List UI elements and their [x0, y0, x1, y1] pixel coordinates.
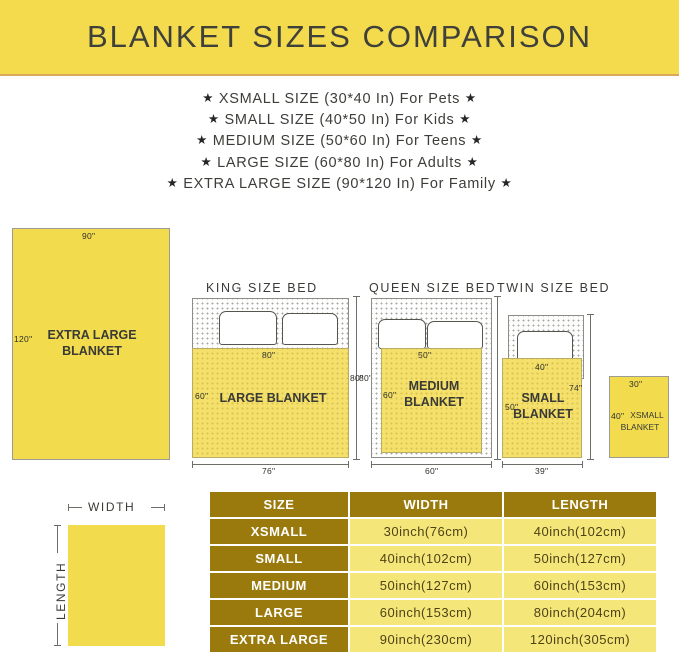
twin-width-tick-right: [582, 461, 583, 468]
king-height-tick-bottom: [353, 459, 360, 460]
king-width-rule: [192, 464, 349, 465]
row-size-label: SMALL: [210, 546, 348, 571]
column-header-width: WIDTH: [350, 492, 502, 517]
table-row: LARGE 60inch(153cm) 80inch(204cm): [210, 600, 656, 625]
king-pillow-right: [282, 313, 338, 345]
row-size-label: XSMALL: [210, 519, 348, 544]
row-size-label: EXTRA LARGE: [210, 627, 348, 652]
legend-blanket-shape: [68, 525, 165, 646]
king-width-tick-right: [348, 461, 349, 468]
queen-height-rule: [497, 296, 498, 460]
queen-bed-height-label: 80": [350, 373, 363, 383]
queen-pillow-right: [427, 321, 483, 349]
row-length-value: 50inch(127cm): [504, 546, 656, 571]
queen-medium-blanket-label-line1: MEDIUM: [398, 378, 470, 394]
row-size-label: LARGE: [210, 600, 348, 625]
king-large-blanket-label: LARGE BLANKET: [213, 390, 333, 406]
legend-length-rule-bottom: [57, 623, 58, 646]
legend-length-label: LENGTH: [54, 562, 68, 620]
queen-width-tick-right: [491, 461, 492, 468]
row-length-value: 120inch(305cm): [504, 627, 656, 652]
extra-large-blanket-label-line2: BLANKET: [42, 343, 142, 359]
king-blanket-width-label: 80": [262, 350, 275, 360]
queen-blanket-width-label: 50": [418, 350, 431, 360]
table-row: XSMALL 30inch(76cm) 40inch(102cm): [210, 519, 656, 544]
table-row: SMALL 40inch(102cm) 50inch(127cm): [210, 546, 656, 571]
column-header-size: SIZE: [210, 492, 348, 517]
king-bed-title: KING SIZE BED: [206, 281, 318, 295]
xsmall-blanket-label-line2: BLANKET: [615, 419, 665, 435]
legend-width-rule-left: [68, 507, 82, 508]
legend-width-rule-right: [151, 507, 165, 508]
twin-height-tick-top: [587, 314, 594, 315]
queen-pillow-left: [378, 319, 426, 349]
twin-width-tick-left: [502, 461, 503, 468]
legend-width-tick-right: [164, 504, 165, 511]
queen-height-tick-bottom: [494, 459, 501, 460]
queen-width-rule: [371, 464, 492, 465]
legend-length-tick-bottom: [54, 645, 61, 646]
row-width-value: 40inch(102cm): [350, 546, 502, 571]
size-comparison-table: SIZE WIDTH LENGTH XSMALL 30inch(76cm) 40…: [208, 490, 658, 654]
twin-bed-title: TWIN SIZE BED: [497, 281, 610, 295]
legend-length-rule-top: [57, 525, 58, 553]
queen-bed-title: QUEEN SIZE BED: [369, 281, 496, 295]
queen-blanket-height-label: 60": [383, 390, 396, 400]
xsmall-width-label: 30": [629, 379, 642, 389]
row-width-value: 90inch(230cm): [350, 627, 502, 652]
queen-bed-width-label: 60": [425, 466, 438, 476]
twin-small-blanket-label-line1: SMALL: [512, 390, 574, 406]
twin-small-blanket-label-line2: BLANKET: [512, 406, 574, 422]
table-row: EXTRA LARGE 90inch(230cm) 120inch(305cm): [210, 627, 656, 652]
legend-width-label: WIDTH: [88, 500, 135, 514]
legend-width-tick-left: [68, 504, 69, 511]
column-header-length: LENGTH: [504, 492, 656, 517]
king-bed-width-label: 76": [262, 466, 275, 476]
queen-medium-blanket-label-line2: BLANKET: [398, 394, 470, 410]
table-header-row: SIZE WIDTH LENGTH: [210, 492, 656, 517]
row-length-value: 80inch(204cm): [504, 600, 656, 625]
king-pillow-left: [219, 311, 277, 345]
row-width-value: 60inch(153cm): [350, 600, 502, 625]
row-width-value: 50inch(127cm): [350, 573, 502, 598]
twin-bed-width-label: 39": [535, 466, 548, 476]
extra-large-width-label: 90": [82, 231, 95, 241]
twin-height-rule: [590, 314, 591, 460]
extra-large-blanket-label-line1: EXTRA LARGE: [42, 327, 142, 343]
legend-length-tick-top: [54, 525, 61, 526]
row-width-value: 30inch(76cm): [350, 519, 502, 544]
king-blanket-height-label: 60": [195, 391, 208, 401]
queen-height-tick-top: [494, 296, 501, 297]
row-length-value: 60inch(153cm): [504, 573, 656, 598]
twin-width-rule: [502, 464, 583, 465]
row-length-value: 40inch(102cm): [504, 519, 656, 544]
king-height-tick-top: [353, 296, 360, 297]
twin-bed-height-label: 74": [569, 383, 582, 393]
king-width-tick-left: [192, 461, 193, 468]
queen-width-tick-left: [371, 461, 372, 468]
row-size-label: MEDIUM: [210, 573, 348, 598]
table-row: MEDIUM 50inch(127cm) 60inch(153cm): [210, 573, 656, 598]
twin-height-tick-bottom: [587, 459, 594, 460]
extra-large-height-label: 120": [14, 334, 32, 344]
twin-blanket-width-label: 40": [535, 362, 548, 372]
